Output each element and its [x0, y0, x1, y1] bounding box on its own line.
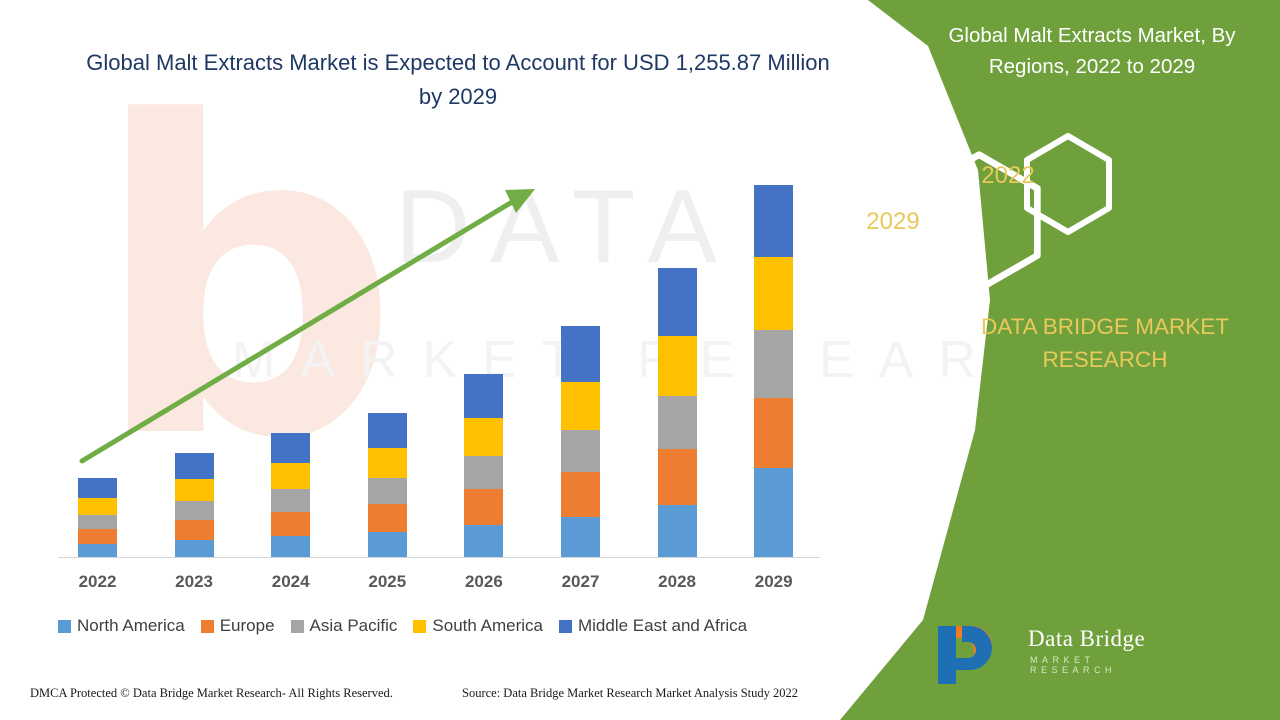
legend-label: South America [432, 616, 543, 636]
bar-segment [271, 489, 310, 512]
bar-2024 [271, 433, 310, 557]
bar-2027 [561, 326, 600, 557]
bar-segment [658, 268, 697, 336]
bridge-mark-icon [920, 622, 1020, 688]
x-axis-label-2025: 2025 [357, 572, 417, 592]
chart-plot-area: 20222023202420252026202720282029 [0, 0, 880, 720]
bar-segment [368, 413, 407, 448]
footer-source: Source: Data Bridge Market Research Mark… [462, 686, 798, 701]
legend-label: North America [77, 616, 185, 636]
bar-segment [464, 525, 503, 557]
bar-segment [658, 505, 697, 557]
hexagon-badges: 2029 2022 [810, 130, 1280, 310]
x-axis-label-2024: 2024 [261, 572, 321, 592]
legend-label: Asia Pacific [310, 616, 398, 636]
bar-segment [175, 501, 214, 520]
logo-wordmark: Data Bridge [1028, 626, 1145, 652]
bar-2025 [368, 413, 407, 557]
bar-segment [175, 479, 214, 501]
data-bridge-logo: Data Bridge MARKET RESEARCH [920, 622, 1170, 694]
bar-segment [271, 512, 310, 536]
infographic-canvas: b DATA MARKET RESEARCH Global Malt Extra… [0, 0, 1280, 720]
bar-segment [368, 504, 407, 532]
bar-segment [464, 418, 503, 456]
bar-2023 [175, 453, 214, 557]
legend-swatch-icon [291, 620, 304, 633]
x-axis-labels: 20222023202420252026202720282029 [0, 572, 880, 598]
chart-legend: North AmericaEuropeAsia PacificSouth Ame… [58, 616, 858, 636]
legend-item[interactable]: Europe [201, 616, 275, 636]
bar-2022 [78, 478, 117, 557]
bar-segment [561, 517, 600, 557]
bar-segment [561, 382, 600, 430]
legend-label: Middle East and Africa [578, 616, 747, 636]
legend-item[interactable]: Asia Pacific [291, 616, 398, 636]
bar-segment [175, 520, 214, 540]
bar-segment [368, 532, 407, 557]
bar-segment [561, 326, 600, 382]
legend-label: Europe [220, 616, 275, 636]
bar-segment [464, 374, 503, 418]
x-axis-line [58, 557, 820, 558]
bar-segment [658, 336, 697, 396]
x-axis-label-2029: 2029 [744, 572, 804, 592]
bar-segment [561, 430, 600, 472]
x-axis-label-2022: 2022 [68, 572, 128, 592]
bar-segment [658, 396, 697, 449]
logo-tagline: MARKET RESEARCH [1030, 655, 1170, 675]
bar-segment [561, 472, 600, 517]
bar-2026 [464, 374, 503, 557]
bar-segment [271, 433, 310, 463]
hexagon-label-2029: 2029 [829, 208, 957, 236]
bar-segment [271, 463, 310, 489]
x-axis-label-2028: 2028 [647, 572, 707, 592]
bar-segment [78, 498, 117, 515]
x-axis-label-2023: 2023 [164, 572, 224, 592]
brand-name: DATA BRIDGE MARKET RESEARCH [940, 310, 1270, 376]
bar-segment [754, 330, 793, 398]
bar-segment [78, 478, 117, 498]
growth-arrow [0, 0, 880, 720]
bar-segment [175, 453, 214, 479]
legend-swatch-icon [559, 620, 572, 633]
hexagon-label-2022: 2022 [944, 162, 1072, 190]
bar-2028 [658, 268, 697, 557]
right-panel-title: Global Malt Extracts Market, By Regions,… [912, 20, 1272, 82]
bar-segment [78, 544, 117, 557]
legend-item[interactable]: Middle East and Africa [559, 616, 747, 636]
bar-segment [271, 536, 310, 557]
bar-segment [754, 398, 793, 468]
bar-segment [754, 185, 793, 257]
legend-swatch-icon [201, 620, 214, 633]
legend-item[interactable]: South America [413, 616, 543, 636]
legend-swatch-icon [58, 620, 71, 633]
bar-segment [464, 489, 503, 525]
legend-item[interactable]: North America [58, 616, 185, 636]
x-axis-label-2027: 2027 [551, 572, 611, 592]
footer-copyright: DMCA Protected © Data Bridge Market Rese… [30, 686, 393, 701]
bar-segment [78, 515, 117, 529]
bar-segment [78, 529, 117, 544]
bar-segment [754, 468, 793, 557]
bar-segment [368, 448, 407, 478]
bar-segment [175, 540, 214, 557]
bar-segment [464, 456, 503, 489]
bar-2029 [754, 185, 793, 557]
bar-segment [368, 478, 407, 504]
bar-segment [754, 257, 793, 330]
x-axis-label-2026: 2026 [454, 572, 514, 592]
legend-swatch-icon [413, 620, 426, 633]
bar-segment [658, 449, 697, 505]
